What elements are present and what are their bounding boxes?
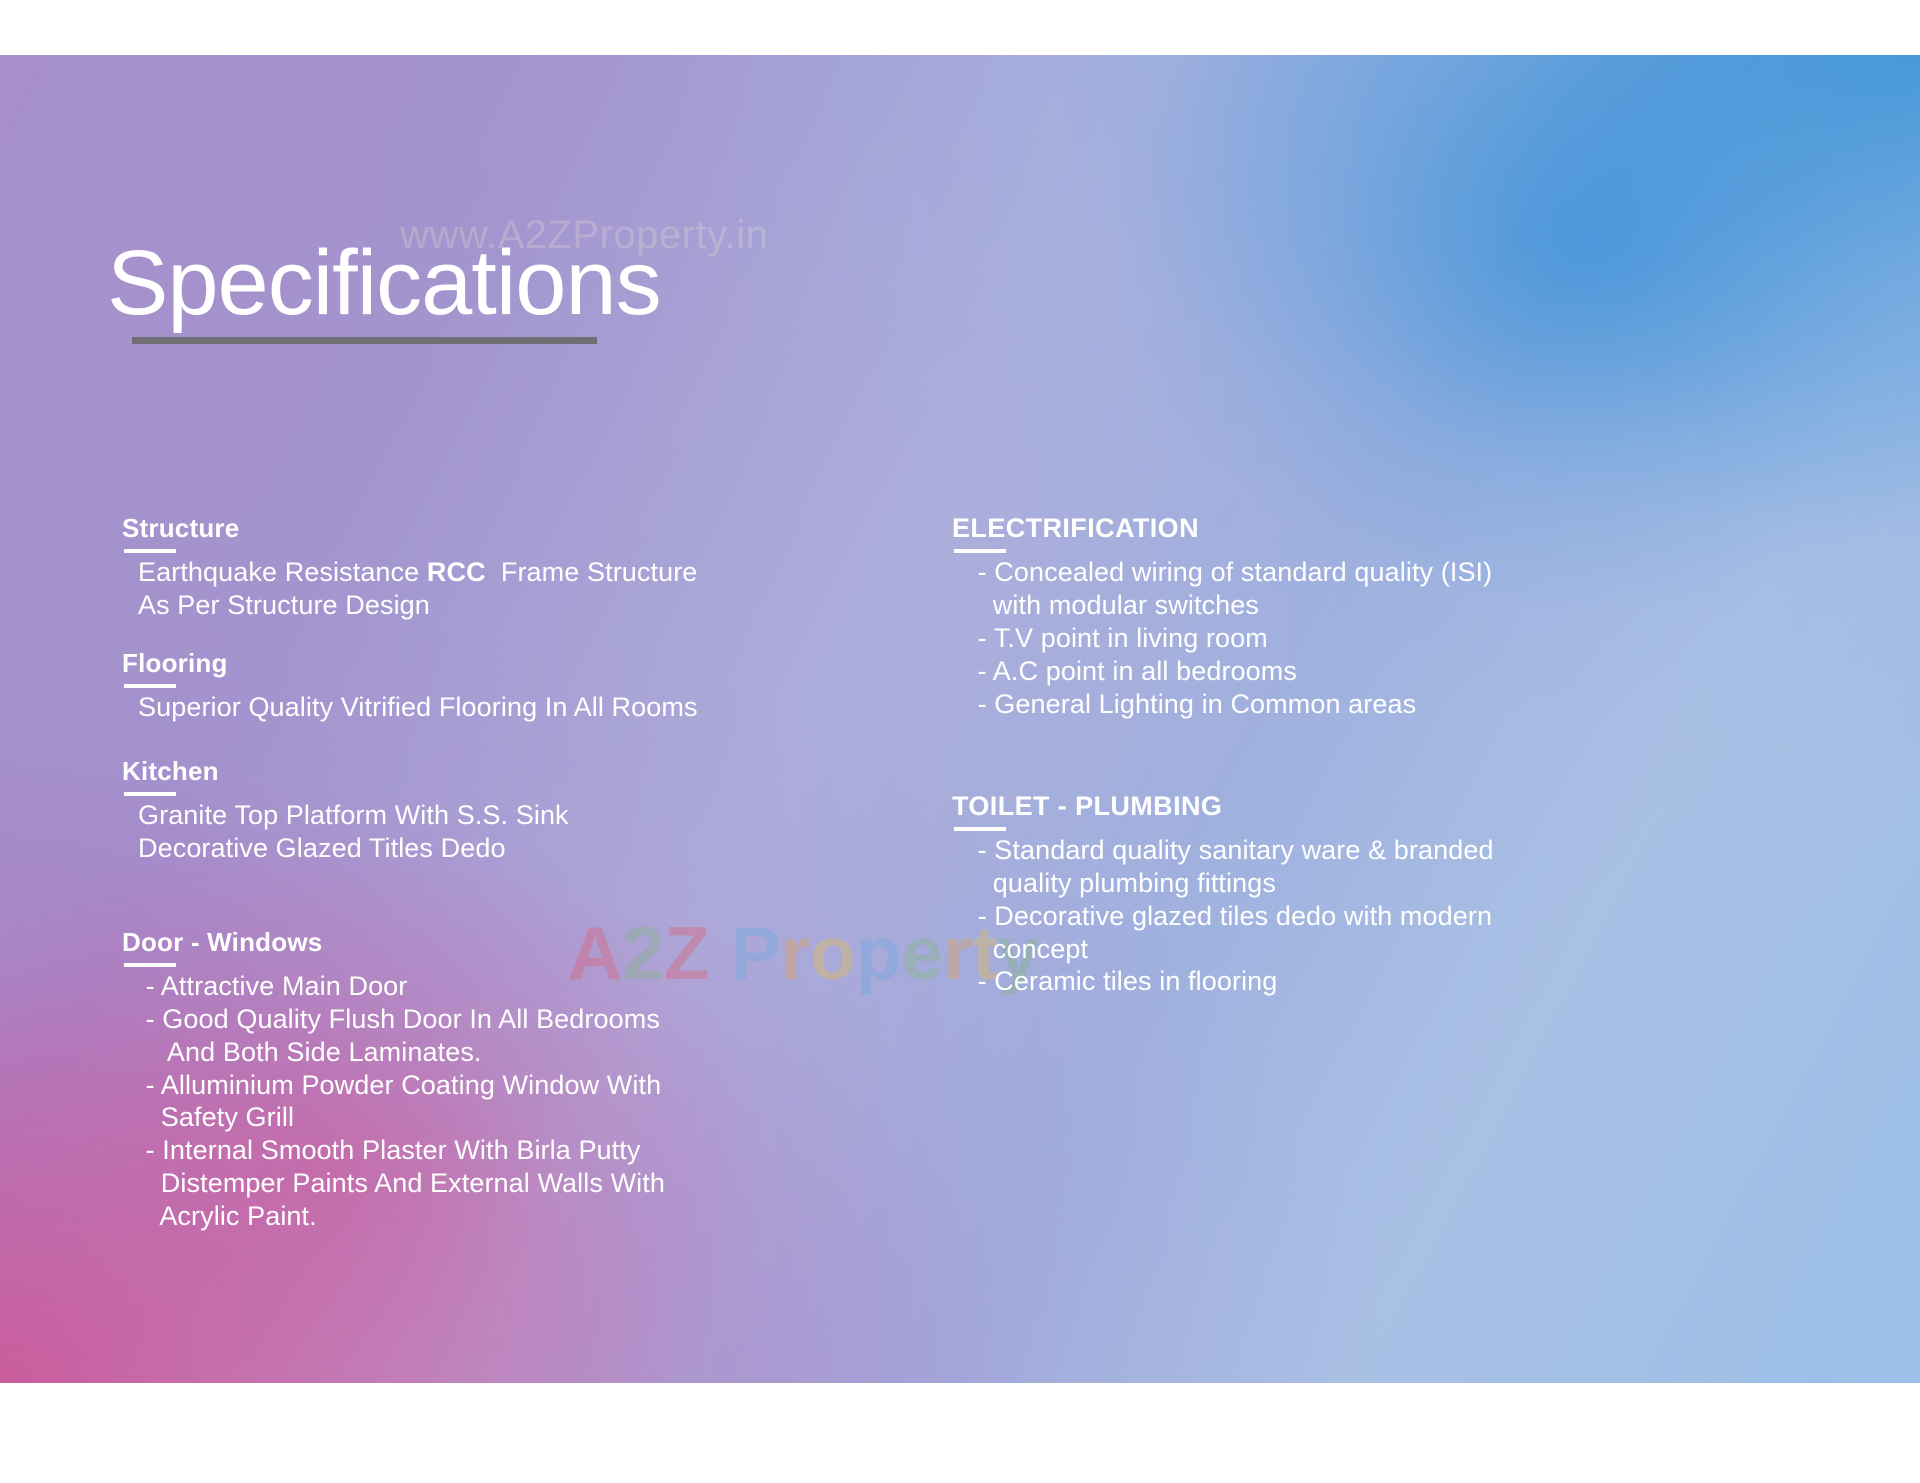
spec-section: ELECTRIFICATION - Concealed wiring of st… <box>952 513 1572 721</box>
spec-section: KitchenGranite Top Platform With S.S. Si… <box>122 756 822 865</box>
spec-line: Superior Quality Vitrified Flooring In A… <box>122 691 822 724</box>
spec-line: - Standard quality sanitary ware & brand… <box>952 834 1572 867</box>
spec-line: - Ceramic tiles in flooring <box>952 965 1572 998</box>
spec-section: FlooringSuperior Quality Vitrified Floor… <box>122 648 822 724</box>
spec-section: Door - Windows - Attractive Main Door - … <box>122 927 822 1234</box>
spec-section-heading: Structure <box>122 513 239 553</box>
spec-section-heading: TOILET - PLUMBING <box>952 791 1222 831</box>
watermark-logo-letter: e <box>901 910 943 996</box>
spec-line: - A.C point in all bedrooms <box>952 655 1572 688</box>
spec-line: - T.V point in living room <box>952 622 1572 655</box>
spec-section-lines: Superior Quality Vitrified Flooring In A… <box>122 691 822 724</box>
title-underline-rule <box>132 337 597 344</box>
spec-line: concept <box>952 933 1572 966</box>
page-title: Specifications <box>107 237 661 329</box>
spec-line: - General Lighting in Common areas <box>952 688 1572 721</box>
spec-line: Decorative Glazed Titles Dedo <box>122 832 822 865</box>
page-title-wrap: Specifications <box>107 237 661 329</box>
spec-line: As Per Structure Design <box>122 589 822 622</box>
spec-line: - Concealed wiring of standard quality (… <box>952 556 1572 589</box>
spec-line: Acrylic Paint. <box>122 1200 822 1233</box>
spec-line: Distemper Paints And External Walls With <box>122 1167 822 1200</box>
spec-line: with modular switches <box>952 589 1572 622</box>
spec-line: Granite Top Platform With S.S. Sink <box>122 799 822 832</box>
spec-section-lines: - Concealed wiring of standard quality (… <box>952 556 1572 721</box>
spec-line: Earthquake Resistance RCC Frame Structur… <box>122 556 822 589</box>
spec-section: StructureEarthquake Resistance RCC Frame… <box>122 513 822 622</box>
spec-line: And Both Side Laminates. <box>122 1036 822 1069</box>
spec-section-lines: - Standard quality sanitary ware & brand… <box>952 834 1572 999</box>
top-white-band <box>0 0 1920 55</box>
section-spacer <box>122 871 822 927</box>
spec-section-lines: Granite Top Platform With S.S. SinkDecor… <box>122 799 822 865</box>
right-spec-column: ELECTRIFICATION - Concealed wiring of st… <box>952 513 1572 1004</box>
section-spacer <box>122 730 822 756</box>
spec-section-lines: - Attractive Main Door - Good Quality Fl… <box>122 970 822 1234</box>
spec-section-heading: Door - Windows <box>122 927 322 967</box>
spec-line: - Alluminium Powder Coating Window With <box>122 1069 822 1102</box>
spec-line: - Good Quality Flush Door In All Bedroom… <box>122 1003 822 1036</box>
spec-line-emphasis: RCC <box>427 557 486 587</box>
spec-section: TOILET - PLUMBING - Standard quality san… <box>952 791 1572 999</box>
bottom-white-band <box>0 1383 1920 1483</box>
watermark-logo-letter: p <box>856 910 902 996</box>
specifications-slide: www.A2ZProperty.in A2Z Property Specific… <box>0 55 1920 1383</box>
spec-line: - Internal Smooth Plaster With Birla Put… <box>122 1134 822 1167</box>
spec-section-heading: Flooring <box>122 648 228 688</box>
spec-line: - Decorative glazed tiles dedo with mode… <box>952 900 1572 933</box>
spec-section-heading: ELECTRIFICATION <box>952 513 1199 553</box>
section-spacer <box>122 628 822 648</box>
spec-line: - Attractive Main Door <box>122 970 822 1003</box>
section-spacer <box>952 727 1572 791</box>
spec-section-lines: Earthquake Resistance RCC Frame Structur… <box>122 556 822 622</box>
left-spec-column: StructureEarthquake Resistance RCC Frame… <box>122 513 822 1239</box>
spec-line: Safety Grill <box>122 1101 822 1134</box>
spec-line: quality plumbing fittings <box>952 867 1572 900</box>
spec-section-heading: Kitchen <box>122 756 219 796</box>
